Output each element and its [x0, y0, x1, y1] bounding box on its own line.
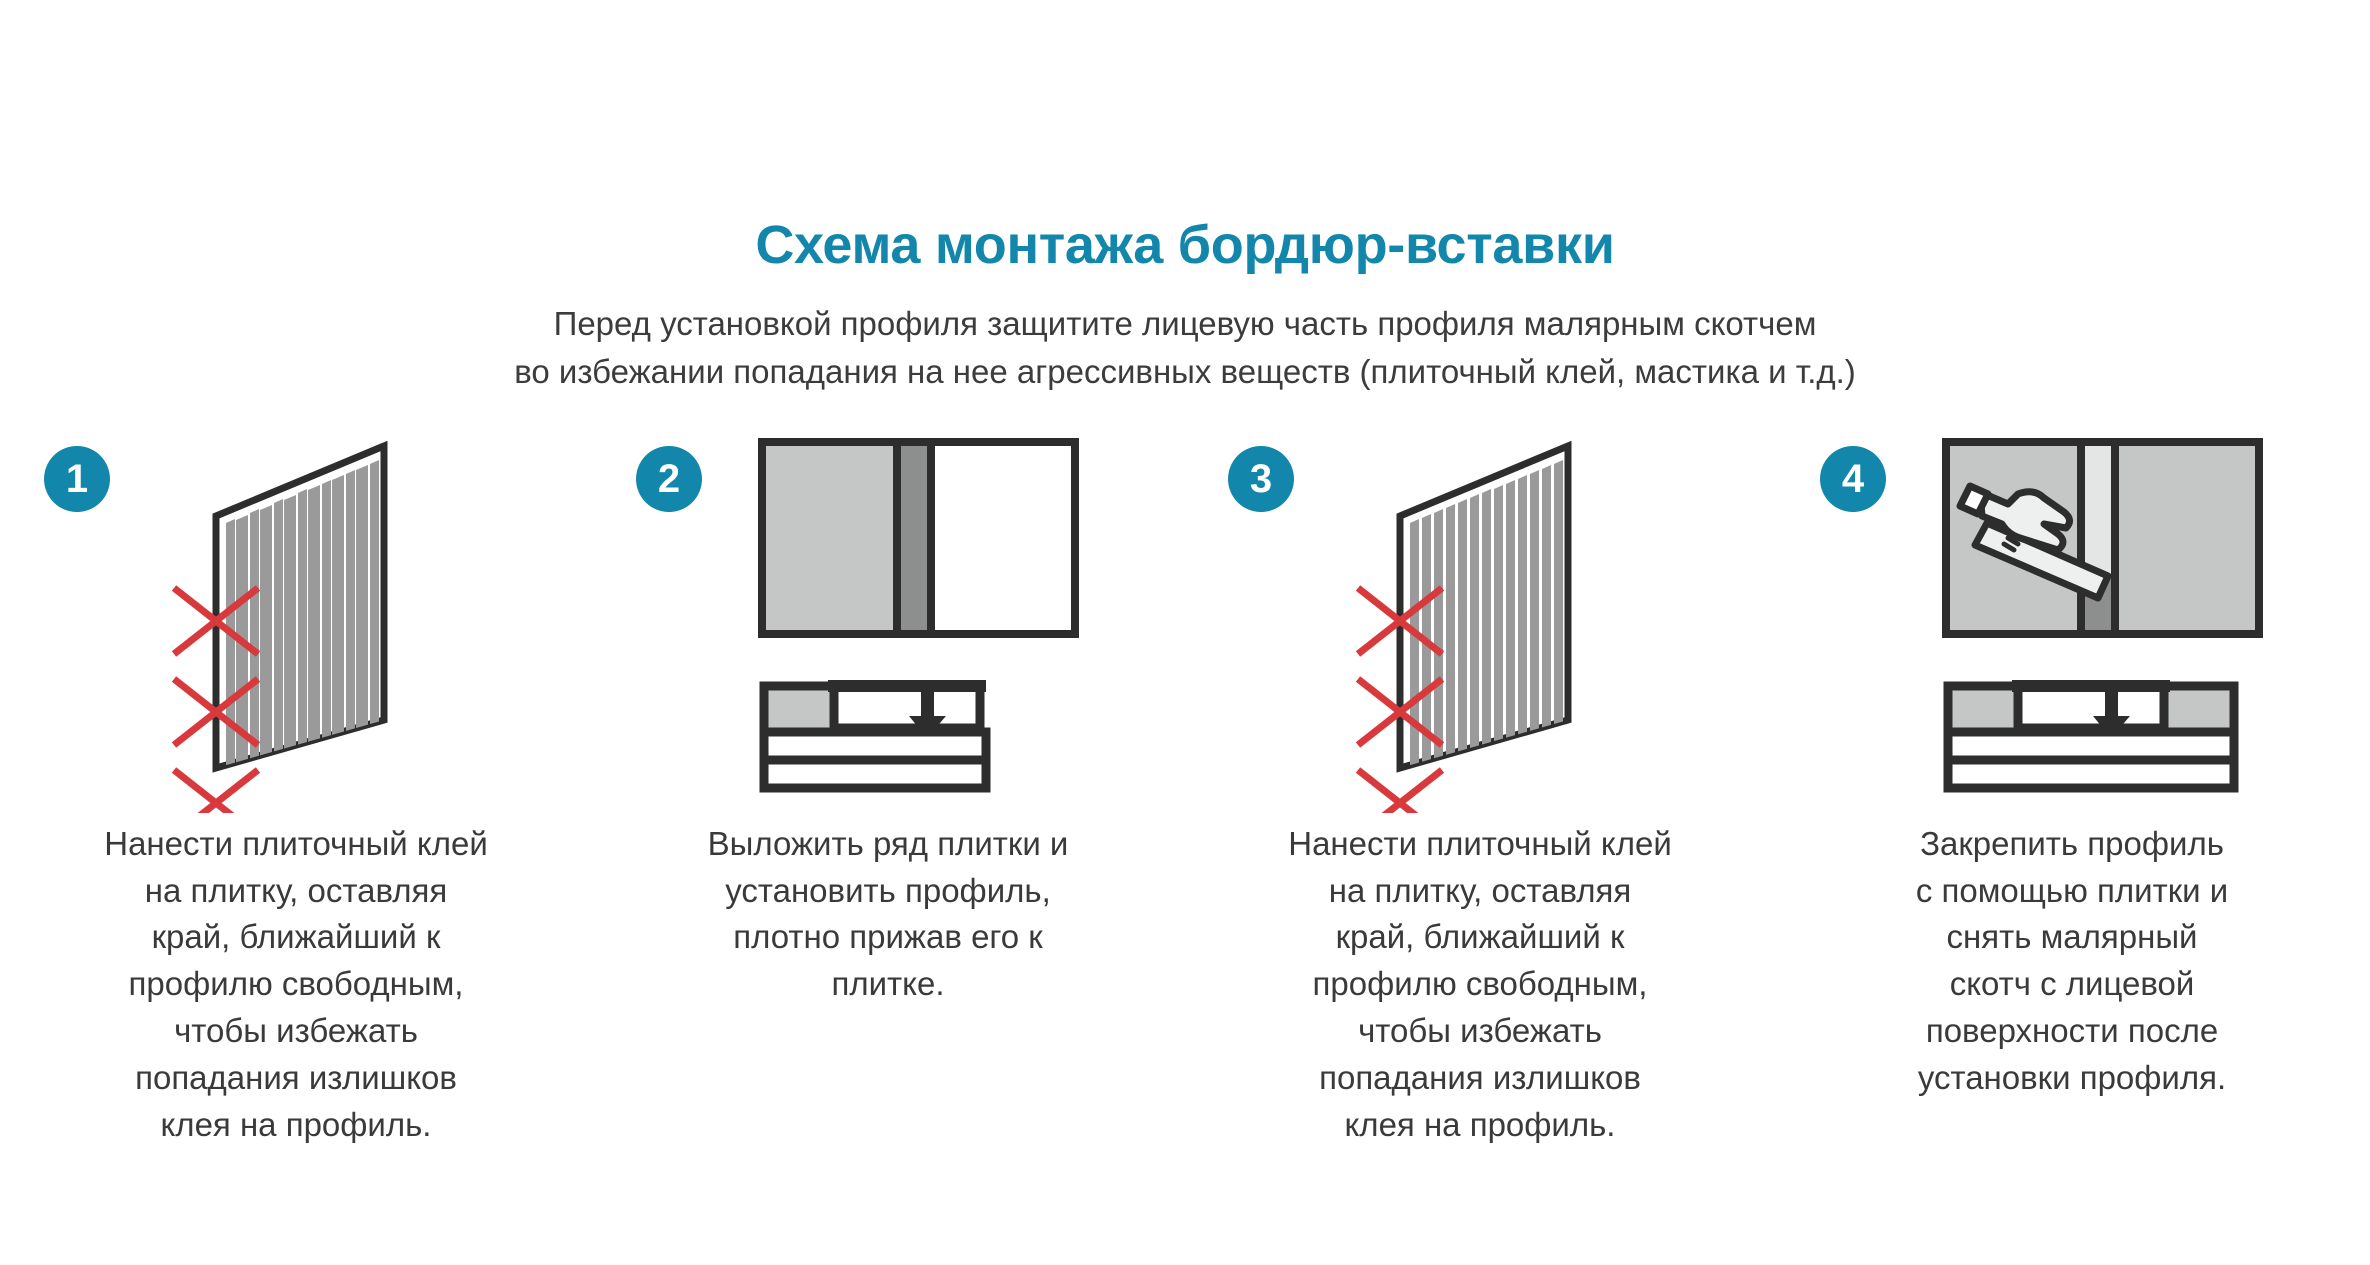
- step-4-caption: Закрепить профиль с помощью плитки и сня…: [1857, 821, 2287, 1102]
- tile-perspective-diagram: [36, 428, 556, 813]
- step-number-badge-4: 4: [1820, 446, 1886, 512]
- profile-top-cap: [828, 680, 986, 692]
- step-3: 3: [1184, 428, 1776, 1149]
- tile-perspective-diagram: [1220, 428, 1740, 813]
- section-tile-left: [764, 686, 834, 732]
- step-2-caption: Выложить ряд плитки и установить профиль…: [673, 821, 1103, 1008]
- step-number-badge-2: 2: [636, 446, 702, 512]
- profile-top-cap: [2012, 680, 2170, 692]
- section-tile-right: [2164, 686, 2234, 732]
- steps-row: 1: [0, 428, 2370, 1149]
- subtitle-line-1: Перед установкой профиля защитите лицеву…: [0, 300, 2370, 348]
- step-1-caption: Нанести плиточный клей на плитку, оставл…: [81, 821, 511, 1149]
- step-number-badge-1: 1: [44, 446, 110, 512]
- page-subtitle: Перед установкой профиля защитите лицеву…: [0, 272, 2370, 396]
- laid-tile: [762, 442, 897, 634]
- step-4: 4: [1776, 428, 2368, 1102]
- substrate-layer-2: [764, 760, 986, 788]
- section-tile-left: [1948, 686, 2018, 732]
- cross-section-view: [1948, 680, 2234, 788]
- page-title: Схема монтажа бордюр-вставки: [0, 0, 2370, 272]
- masking-tape-on-profile: [2085, 446, 2111, 574]
- tile-row-topview-diagram: [628, 428, 1148, 813]
- step-3-illustration: 3: [1220, 428, 1740, 813]
- step-4-illustration: 4: [1812, 428, 2332, 813]
- step-1: 1: [0, 428, 592, 1149]
- installed-tile-right: [2115, 442, 2259, 634]
- tape-removal-diagram: [1812, 428, 2332, 813]
- cross-section-view: [764, 680, 986, 788]
- step-2-illustration: 2: [628, 428, 1148, 813]
- substrate-layer-2: [1948, 760, 2234, 788]
- step-2: 2: [592, 428, 1184, 1008]
- installed-tiles-top-view: [1946, 442, 2259, 634]
- border-profile-strip: [897, 442, 931, 634]
- step-3-caption: Нанести плиточный клей на плитку, оставл…: [1265, 821, 1695, 1149]
- subtitle-line-2: во избежании попадания на нее агрессивны…: [0, 348, 2370, 396]
- empty-tile-area: [931, 442, 1075, 634]
- tile-row-top-view: [762, 442, 1075, 634]
- step-number-badge-3: 3: [1228, 446, 1294, 512]
- step-1-illustration: 1: [36, 428, 556, 813]
